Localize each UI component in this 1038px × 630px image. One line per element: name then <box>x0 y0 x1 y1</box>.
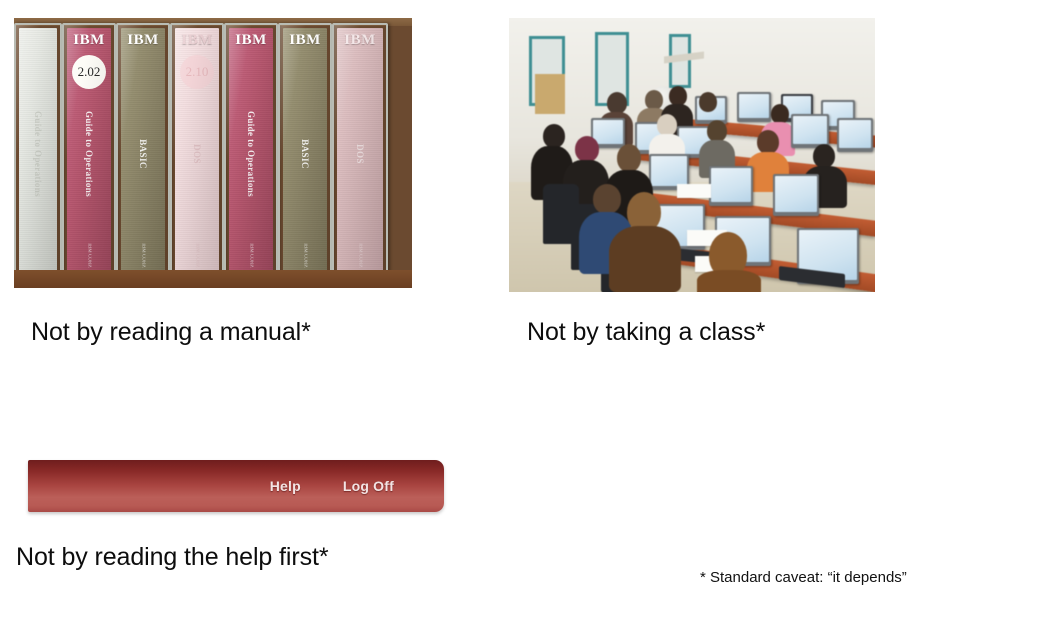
footnote-standard-caveat: * Standard caveat: “it depends” <box>700 569 907 586</box>
student-head <box>771 104 789 124</box>
student-body <box>697 270 761 292</box>
binder-brand: IBM <box>280 32 330 49</box>
binder-brand: IBM <box>64 32 114 49</box>
student-head <box>757 130 779 154</box>
help-link[interactable]: Help <box>270 478 301 494</box>
binder-version-badge: 2.10 <box>180 55 214 89</box>
binder-item: IBM BASIC IBM CORP. <box>278 23 332 276</box>
monitor <box>773 174 819 216</box>
binder-brand: IBM <box>226 32 276 49</box>
binder-footer: IBM CORP. <box>195 243 200 267</box>
caption-not-by-reading-a-manual: Not by reading a manual* <box>31 318 311 347</box>
ibm-manuals-photo: Guide to Operations IBM 2.02 Guide to Op… <box>14 18 412 288</box>
caption-not-by-reading-the-help-first: Not by reading the help first* <box>16 543 328 572</box>
photo-shelf-floor <box>14 270 412 288</box>
monitor <box>709 166 753 206</box>
binder-footer: IBM CORP. <box>87 243 92 267</box>
binder-title: DOS <box>355 145 365 165</box>
student-body <box>609 226 681 292</box>
binder-title: DOS <box>192 145 202 165</box>
binder-item: IBM 2.10 DOS IBM CORP. <box>170 23 224 276</box>
binder-footer: IBM CORP. <box>141 243 146 267</box>
student-head <box>813 144 835 168</box>
slide-canvas: Guide to Operations IBM 2.02 Guide to Op… <box>0 0 1038 630</box>
binder-item: Guide to Operations <box>14 23 62 276</box>
binder-item: IBM 2.02 Guide to Operations IBM CORP. <box>62 23 116 276</box>
monitor <box>737 92 771 122</box>
monitor <box>791 114 829 148</box>
binder-brand: IBM <box>172 32 222 49</box>
binder-item: IBM BASIC IBM CORP. <box>116 23 170 276</box>
caption-not-by-taking-a-class: Not by taking a class* <box>527 318 765 347</box>
cardboard-box <box>535 74 565 114</box>
binder-footer: IBM CORP. <box>249 243 254 267</box>
binder-title: Guide to Operations <box>246 111 256 197</box>
binder-item: IBM Guide to Operations IBM CORP. <box>224 23 278 276</box>
binder-footer: IBM CORP. <box>303 243 308 267</box>
student-head <box>617 144 641 172</box>
binder-title: Guide to Operations <box>84 111 94 197</box>
student-head <box>657 114 677 136</box>
student-head <box>607 92 627 114</box>
student-head <box>707 120 727 142</box>
binder-brand: IBM <box>118 32 168 49</box>
binder-title: BASIC <box>300 140 310 170</box>
binder-version-badge: 2.02 <box>72 55 106 89</box>
student-head <box>575 136 599 162</box>
binder-footer: IBM CORP. <box>358 243 363 267</box>
help-bar-link-group: Help Log Off <box>270 460 394 512</box>
log-off-link[interactable]: Log Off <box>343 478 394 494</box>
application-help-bar: Help Log Off <box>28 460 444 512</box>
student-head <box>593 184 621 214</box>
classroom-photo <box>509 18 875 292</box>
binder-item: IBM DOS IBM CORP. <box>332 23 388 276</box>
binder-title: BASIC <box>138 140 148 170</box>
student-head <box>645 90 663 110</box>
binder-brand: IBM <box>334 32 386 49</box>
student-head <box>699 92 717 112</box>
paper-sheet <box>677 184 711 198</box>
binder-row: Guide to Operations IBM 2.02 Guide to Op… <box>14 23 412 276</box>
student-head <box>543 124 565 148</box>
monitor <box>837 118 873 152</box>
binder-title: Guide to Operations <box>33 111 43 197</box>
student-head <box>669 86 687 106</box>
